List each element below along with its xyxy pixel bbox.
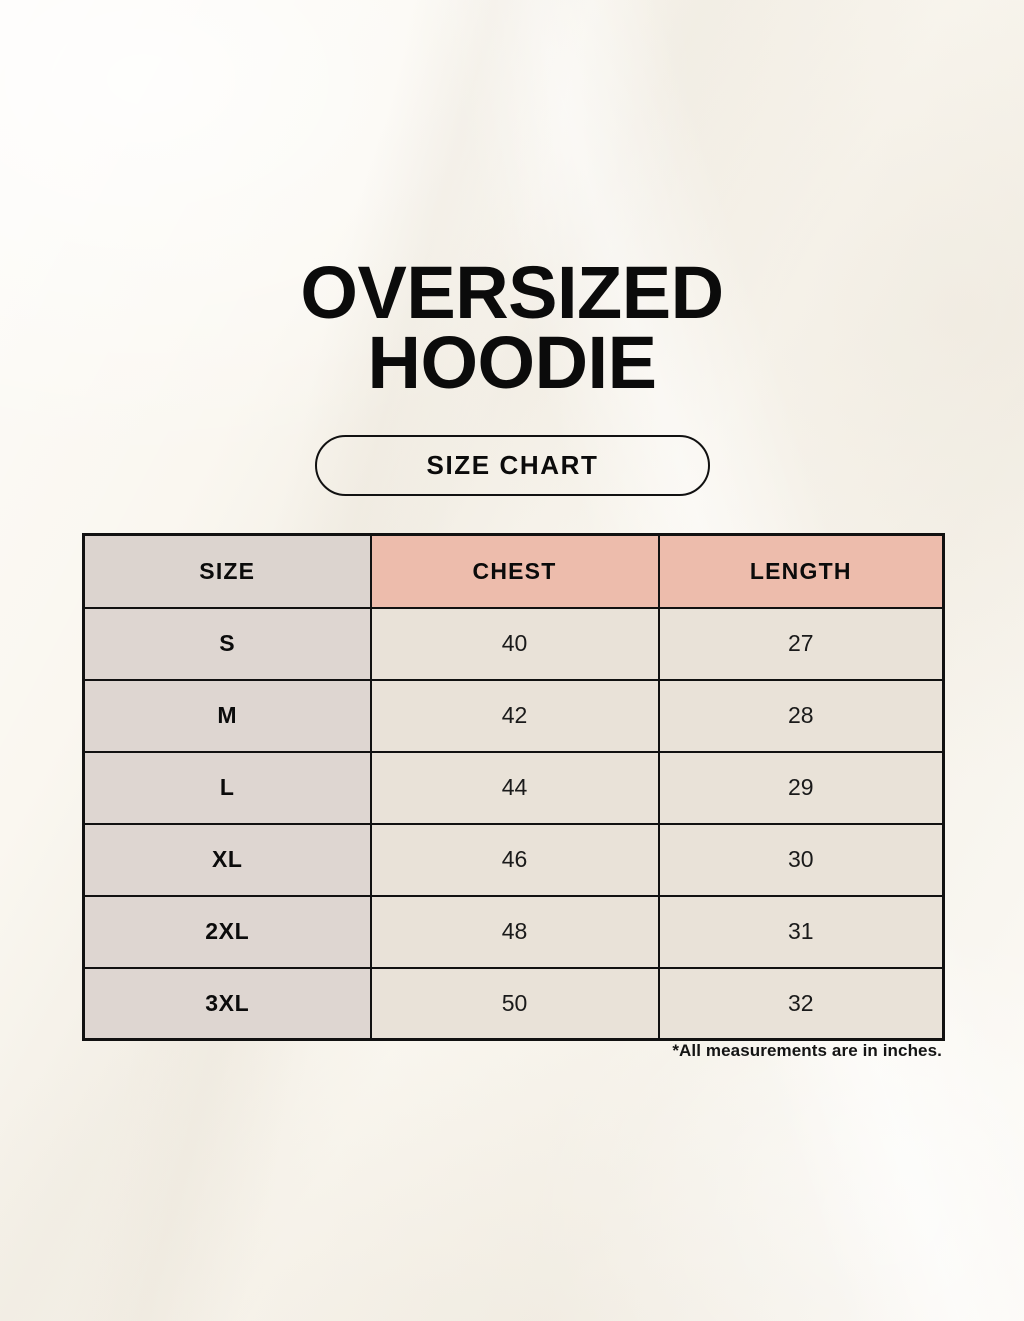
cell-size: M	[84, 680, 371, 752]
table-row: S 40 27	[84, 608, 944, 680]
cell-length: 31	[659, 896, 944, 968]
table-row: XL 46 30	[84, 824, 944, 896]
size-chart-badge-label: SIZE CHART	[427, 450, 599, 481]
page-title: OVERSIZED HOODIE	[0, 258, 1024, 399]
measurement-units-note: *All measurements are in inches.	[82, 1041, 942, 1061]
page-title-line-1: OVERSIZED	[0, 258, 1024, 328]
cell-size: 2XL	[84, 896, 371, 968]
size-chart-page: OVERSIZED HOODIE SIZE CHART SIZE CHEST L…	[0, 0, 1024, 1321]
cell-size: XL	[84, 824, 371, 896]
cell-chest: 50	[371, 968, 659, 1040]
column-header-size: SIZE	[84, 535, 371, 608]
table-row: L 44 29	[84, 752, 944, 824]
cell-size: 3XL	[84, 968, 371, 1040]
cell-size: L	[84, 752, 371, 824]
cell-length: 30	[659, 824, 944, 896]
column-header-chest: CHEST	[371, 535, 659, 608]
table-body: S 40 27 M 42 28 L 44 29 XL 46 30 2XL 48	[84, 608, 944, 1040]
column-header-length: LENGTH	[659, 535, 944, 608]
page-title-line-2: HOODIE	[0, 328, 1024, 398]
cell-length: 27	[659, 608, 944, 680]
cell-chest: 44	[371, 752, 659, 824]
cell-size: S	[84, 608, 371, 680]
size-chart-badge: SIZE CHART	[315, 435, 710, 496]
size-chart-table: SIZE CHEST LENGTH S 40 27 M 42 28 L 44 2…	[82, 533, 945, 1041]
cell-length: 29	[659, 752, 944, 824]
cell-chest: 40	[371, 608, 659, 680]
cell-length: 28	[659, 680, 944, 752]
table-header: SIZE CHEST LENGTH	[84, 535, 944, 608]
cell-chest: 48	[371, 896, 659, 968]
table-row: M 42 28	[84, 680, 944, 752]
cell-chest: 46	[371, 824, 659, 896]
table-row: 2XL 48 31	[84, 896, 944, 968]
table-header-row: SIZE CHEST LENGTH	[84, 535, 944, 608]
cell-length: 32	[659, 968, 944, 1040]
cell-chest: 42	[371, 680, 659, 752]
table-row: 3XL 50 32	[84, 968, 944, 1040]
